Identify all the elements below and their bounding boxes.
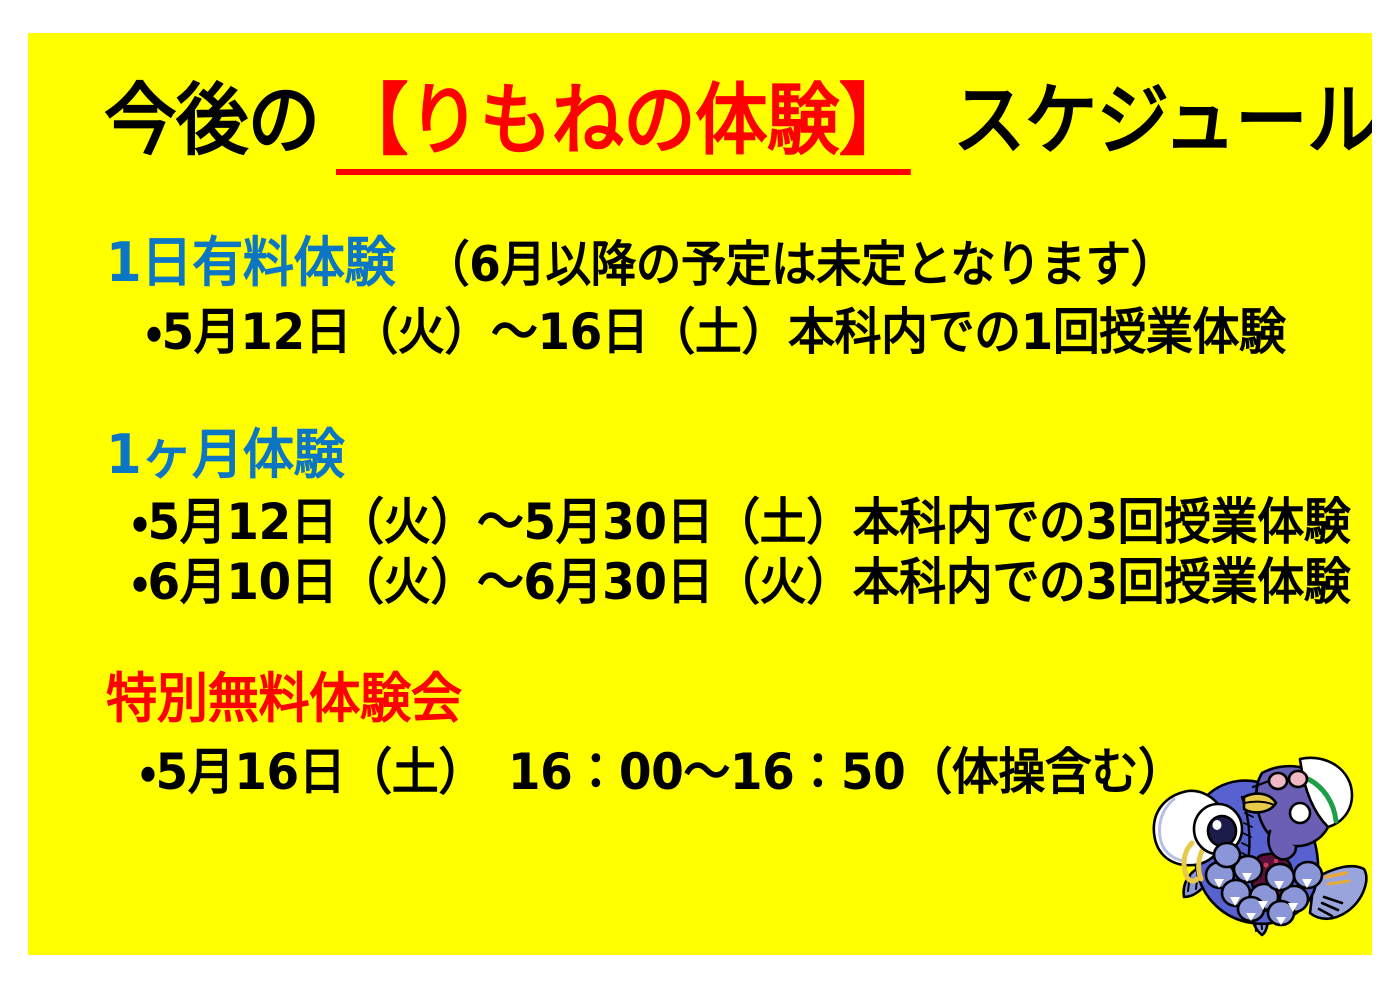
- yellow-panel: 今後の 【りもねの体験】 スケジュール 1日有料体験 （6月以降の予定は未定とな…: [28, 33, 1372, 955]
- list-item: ・5月16日（土） 16：00～16：50（体操含む）: [140, 745, 1185, 800]
- title-highlight: 【りもねの体験】: [336, 77, 911, 175]
- poster-root: 今後の 【りもねの体験】 スケジュール 1日有料体験 （6月以降の予定は未定とな…: [0, 0, 1400, 990]
- list-item: ・5月12日（火）～16日（土）本科内での1回授業体験: [146, 305, 1286, 360]
- section-heading-special-free: 特別無料体験会: [106, 669, 480, 733]
- title-prefix: 今後の: [104, 77, 319, 167]
- section-heading-label: 1日有料体験: [106, 233, 395, 292]
- section-heading-note: （6月以降の予定は未定となります）: [424, 238, 1176, 292]
- koinobori-icon: [1138, 751, 1372, 955]
- section-heading-label: 特別無料体験会: [106, 669, 462, 728]
- title-suffix: スケジュール: [953, 77, 1372, 167]
- list-item: ・6月10日（火）～6月30日（火）本科内での3回授業体験: [132, 555, 1350, 610]
- list-item: ・5月12日（火）～5月30日（土）本科内での3回授業体験: [132, 495, 1350, 550]
- section-heading-one-day-paid: 1日有料体験 （6月以降の予定は未定となります）: [106, 233, 1233, 297]
- section-heading-one-month: 1ヶ月体験: [106, 425, 357, 489]
- page-title: 今後の 【りもねの体験】 スケジュール: [104, 77, 1372, 187]
- section-heading-label: 1ヶ月体験: [106, 425, 344, 484]
